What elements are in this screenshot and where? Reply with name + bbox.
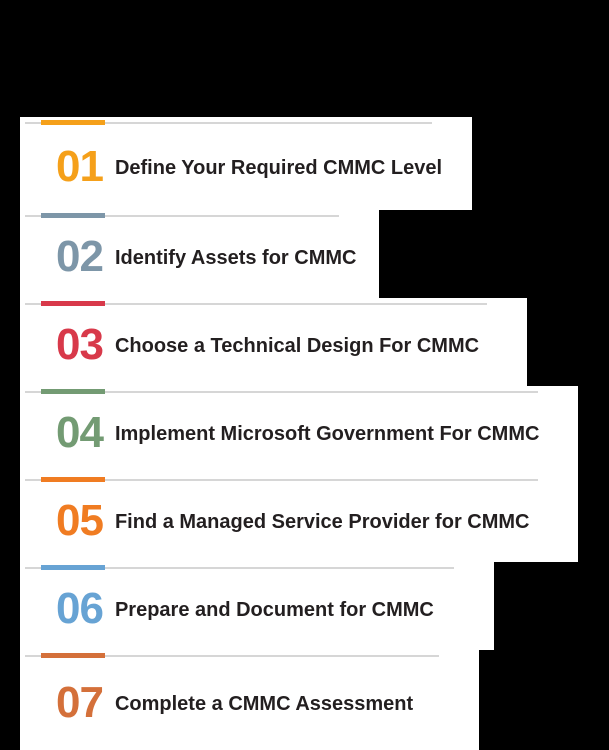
step-card[interactable]: 03Choose a Technical Design For CMMC [20,298,527,386]
step-number: 06 [56,587,103,631]
step-number: 01 [56,145,103,189]
step-card[interactable]: 07Complete a CMMC Assessment [20,650,479,750]
step-title: Complete a CMMC Assessment [115,693,413,715]
step-title: Identify Assets for CMMC [115,247,357,269]
step-title: Prepare and Document for CMMC [115,599,434,621]
step-number: 07 [56,681,103,725]
step-body: 02Identify Assets for CMMC [20,210,379,298]
step-title: Find a Managed Service Provider for CMMC [115,511,530,533]
step-body: 04Implement Microsoft Government For CMM… [20,386,578,474]
step-body: 01Define Your Required CMMC Level [20,117,472,210]
step-body: 06Prepare and Document for CMMC [20,562,494,650]
step-number: 02 [56,235,103,279]
step-card[interactable]: 01Define Your Required CMMC Level [20,117,472,210]
step-title: Choose a Technical Design For CMMC [115,335,479,357]
step-card[interactable]: 02Identify Assets for CMMC [20,210,379,298]
step-number: 03 [56,323,103,367]
step-number: 05 [56,499,103,543]
step-title: Define Your Required CMMC Level [115,157,442,179]
step-title: Implement Microsoft Government For CMMC [115,423,539,445]
step-card[interactable]: 06Prepare and Document for CMMC [20,562,494,650]
step-number: 04 [56,411,103,455]
step-card[interactable]: 04Implement Microsoft Government For CMM… [20,386,578,474]
step-card[interactable]: 05Find a Managed Service Provider for CM… [20,474,578,562]
steps-list: 01Define Your Required CMMC Level02Ident… [0,0,609,750]
step-body: 03Choose a Technical Design For CMMC [20,298,527,386]
step-body: 05Find a Managed Service Provider for CM… [20,474,578,562]
step-body: 07Complete a CMMC Assessment [20,650,479,750]
